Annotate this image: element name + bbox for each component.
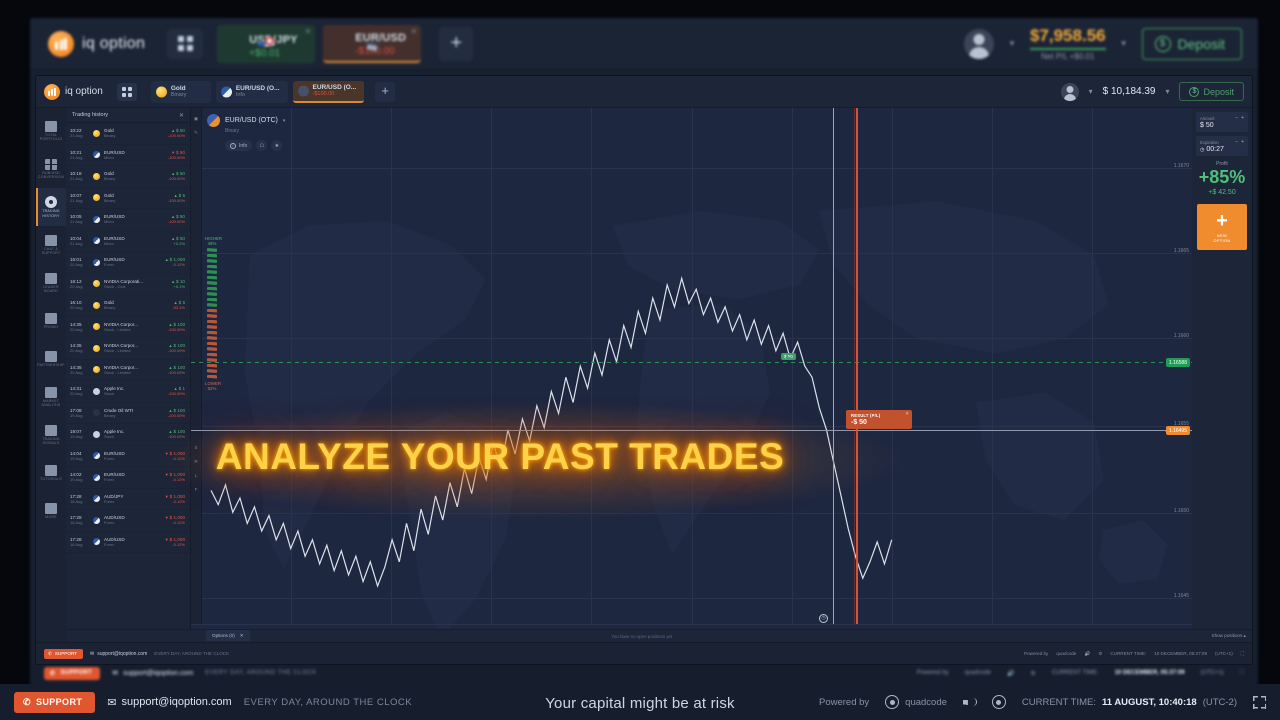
apps-grid-button[interactable]	[167, 29, 203, 59]
table-row[interactable]: 16:1020 AugGoldBinary▲$ 5-83.1%	[66, 295, 190, 317]
coin-icon: $	[1155, 36, 1171, 52]
table-row[interactable]: 10:2121 AugEUR/USDMicro▼$ 50-100.00%	[66, 145, 190, 167]
support-label: SUPPORT	[55, 651, 77, 656]
trade-amount-cell: ▲$ 50+0.2%	[171, 236, 185, 246]
amount-caption: Amount − +	[1200, 115, 1244, 121]
expiration-minus-button[interactable]: −	[1235, 139, 1238, 145]
chevron-down-icon[interactable]: ▼	[1008, 39, 1016, 48]
support-badge[interactable]: ✆ SUPPORT	[44, 649, 83, 659]
asset-tab-eurusd-otc-selected[interactable]: EUR/USD (O... -$100.00	[293, 81, 365, 103]
table-row[interactable]: 17:2818 AugAUD/USDForex▼$ 1,000-0.12%	[66, 510, 190, 532]
trade-pct: -100.00%	[168, 133, 185, 138]
table-row[interactable]: 10:0421 AugEUR/USDMicro▲$ 50+0.2%	[66, 231, 190, 253]
clock-icon: ◷	[819, 614, 828, 623]
profit-amount: +$ 42.50	[1196, 189, 1248, 196]
trade-pct: -0.12%	[165, 542, 185, 547]
asset-icon	[93, 345, 100, 352]
rail-item-partnership[interactable]: PARTNERSHIP	[36, 340, 66, 378]
trophy-icon	[45, 273, 57, 284]
brand-logo[interactable]: iq option	[48, 31, 145, 57]
asset-tab-pl: -$100.00	[313, 91, 357, 97]
rail-item-label: MORE	[37, 515, 65, 519]
price-axis-tick: 1.1665	[1174, 248, 1189, 254]
trade-time-cell: 17:2818 Aug	[70, 494, 89, 504]
trade-amount-cell: ▼$ 1,000-0.12%	[165, 515, 185, 525]
dots-icon	[45, 503, 57, 514]
asset-icon	[93, 173, 100, 180]
support-note: EVERY DAY, AROUND THE CLOCK	[205, 670, 316, 676]
add-asset-button[interactable]: +	[439, 27, 473, 61]
asset-tab-label: Gold	[171, 85, 203, 92]
trade-asset-cell: EUR/USDMicro	[104, 236, 167, 246]
headline-text: ANALYZE YOUR PAST TRADES	[0, 436, 1000, 478]
trading-history-panel: Trading history ✕ 10:2221 AugGoldBinary▲…	[66, 108, 191, 642]
top-bar-right: ▾ $ 10,184.39 ▾ $ Deposit	[1061, 82, 1244, 101]
trade-asset-cell: NVIDIA Corporati...Stock - Clos	[104, 279, 167, 289]
asset-icon	[93, 280, 100, 287]
analysis-icon	[45, 387, 57, 398]
trade-time-cell: 10:0721 Aug	[70, 193, 89, 203]
add-asset-button[interactable]: +	[375, 82, 395, 102]
trade-amount-cell: ▲$ 50-100.00%	[168, 214, 185, 224]
options-tab[interactable]: Options (0) ✕	[206, 630, 250, 641]
brand-logo[interactable]: iq option	[44, 84, 103, 100]
trade-amount-cell: ▲$ 100-100.00%	[168, 365, 185, 375]
price-axis-tick: 1.1670	[1174, 163, 1189, 169]
price-axis-tick: 1.1655	[1174, 421, 1189, 427]
new-option-label: NEW OPTION	[1213, 233, 1230, 243]
trade-date: 19 Aug	[70, 413, 89, 418]
handshake-icon	[45, 351, 57, 362]
support-email[interactable]: ✉ support@iqoption.com	[90, 651, 147, 657]
table-row[interactable]: 14:3520 AugNVIDIA Corpor...Stock - Limit…	[66, 360, 190, 382]
top-bar: iq option Gold Binary EUR/USD (O... Info	[36, 76, 1252, 108]
table-row[interactable]: 14:3520 AugNVIDIA Corpor...Stock - Limit…	[66, 338, 190, 360]
trade-type: Forex	[104, 477, 161, 482]
trade-time-cell: 16:1020 Aug	[70, 300, 89, 310]
rail-item-market-analysis[interactable]: MARKET ANALYSIS	[36, 378, 66, 416]
trading-history-list[interactable]: 10:2221 AugGoldBinary▲$ 50-100.00%10:212…	[66, 123, 190, 642]
result-badge[interactable]: ✕ RESULT (P/L) -$ 50	[846, 410, 912, 429]
balance-widget[interactable]: $7,958.56 Net P/L +$0.01	[1030, 26, 1106, 61]
trade-time-cell: 10:0421 Aug	[70, 236, 89, 246]
settings-icon[interactable]: ⚙	[1098, 651, 1102, 657]
trade-asset-cell: EUR/USDMicro	[104, 150, 164, 160]
trade-asset-cell: GoldBinary	[104, 300, 168, 310]
amount-steppers: − +	[1235, 115, 1244, 121]
clock-icon: ◷	[1200, 147, 1204, 153]
amount-plus-button[interactable]: +	[1241, 115, 1244, 121]
asset-tab-strip: Gold Binary EUR/USD (O... Info EUR/USD (…	[151, 81, 395, 103]
amount-field[interactable]: Amount − + $ 50	[1196, 112, 1248, 132]
trade-pct: -0.12%	[165, 520, 185, 525]
deposit-label: Deposit	[1203, 87, 1234, 97]
price-axis-tick: 1.1645	[1174, 593, 1189, 599]
grid-cell	[178, 36, 184, 42]
table-row[interactable]: 10:0521 AugEUR/USDMicro▲$ 50-100.00%	[66, 209, 190, 231]
trade-type: Binary	[104, 176, 164, 181]
avatar[interactable]	[1061, 83, 1079, 101]
trade-amount-cell: ▲$ 5-83.1%	[172, 300, 185, 310]
current-time-label: CURRENT TIME:	[1110, 651, 1146, 656]
asset-tab-label: EUR/USD (O...	[313, 84, 357, 91]
asset-icon	[93, 538, 100, 545]
trade-date: 20 Aug	[70, 391, 89, 396]
brand-name: iq option	[65, 86, 103, 97]
utc-offset: (UTC+1)	[1201, 670, 1224, 676]
close-icon[interactable]: ✕	[305, 27, 312, 36]
trade-asset-cell: NVIDIA Corpor...Stock - Limited	[104, 365, 164, 375]
trade-pct: -100.00%	[168, 348, 185, 353]
asset-tab-label: EUR/USD (O...	[236, 85, 280, 92]
trade-type: Forex	[104, 499, 161, 504]
trade-date: 21 Aug	[70, 155, 89, 160]
trade-asset-cell: Crude Oil WTIBinary	[104, 408, 164, 418]
grid-icon	[45, 159, 57, 170]
asset-icon	[93, 366, 100, 373]
iq-option-logo-icon	[48, 31, 74, 57]
footer-bar: ✆ SUPPORT ✉ support@iqoption.com EVERY D…	[36, 642, 1252, 664]
asset-tab-sub: Binary	[171, 92, 203, 98]
apps-grid-button[interactable]	[117, 83, 137, 101]
support-icon: ✆	[50, 670, 55, 677]
trade-asset-cell: GoldBinary	[104, 128, 164, 138]
left-nav-rail: TOTAL PORTFOLIORUB/USD CONVERSIONTRADING…	[36, 108, 66, 642]
trade-time-cell: 16:1220 Aug	[70, 279, 89, 289]
price-axis-tick: 1.1660	[1174, 333, 1189, 339]
trade-amount-cell: ▲$ 1,000-0.12%	[165, 257, 185, 267]
sound-icon[interactable]: 🔊	[1084, 651, 1090, 657]
expiration-label: Expiration	[1200, 140, 1219, 145]
close-icon[interactable]: ✕	[240, 633, 244, 639]
show-positions-button[interactable]: Show positions ▴	[1212, 633, 1246, 639]
application-window: iq option Gold Binary EUR/USD (O... Info	[36, 76, 1252, 664]
main-body: TOTAL PORTFOLIORUB/USD CONVERSIONTRADING…	[36, 108, 1252, 642]
brand-name: iq option	[82, 35, 145, 53]
outer-top-bar: iq option ✕ USD/JPY +$0.01 ✕ EUR/USD -$1…	[30, 18, 1258, 70]
trade-amount-cell: ▲$ 100-100.00%	[168, 408, 185, 418]
trade-time-cell: 17:2818 Aug	[70, 515, 89, 525]
briefcase-icon	[45, 121, 57, 132]
expiration-plus-button[interactable]: +	[1241, 139, 1244, 145]
asset-icon	[93, 409, 100, 416]
trade-type: Forex	[104, 542, 161, 547]
grid-cell	[122, 87, 126, 91]
grid-cell	[128, 93, 132, 97]
table-row[interactable]: 17:2818 AugAUD/USDForex▼$ 1,000-0.12%	[66, 532, 190, 554]
asset-tab-eurusd-otc[interactable]: EUR/USD (O... Info	[216, 81, 288, 103]
grid-cell	[187, 36, 193, 42]
trade-type: Stock - Clos	[104, 284, 167, 289]
amount-minus-button[interactable]: −	[1235, 115, 1238, 121]
strike-line-green	[191, 362, 1192, 363]
trade-type: Binary	[104, 198, 164, 203]
panel-title: Trading history	[72, 112, 108, 118]
close-icon[interactable]: ✕	[905, 411, 909, 417]
trade-time-cell: 10:2121 Aug	[70, 150, 89, 160]
close-icon[interactable]: ✕	[411, 27, 418, 36]
profit-percent: +85%	[1196, 168, 1248, 187]
chevron-down-icon[interactable]: ▾	[1165, 87, 1169, 96]
trade-asset-cell: Apple Inc.Stock	[104, 386, 164, 396]
deposit-button[interactable]: $ Deposit	[1142, 28, 1242, 60]
trade-amount-cell: ▲$ 1-100.00%	[168, 386, 185, 396]
trade-date: 21 Aug	[70, 176, 89, 181]
trade-amount-cell: ▲$ 100-100.00%	[168, 343, 185, 353]
asset-tab-sub: Info	[236, 92, 280, 98]
purchase-line-shadow	[854, 108, 855, 624]
deal-marker[interactable]: $ 50	[781, 353, 796, 360]
price-axis: 1.16701.16651.16601.16551.16501.1645	[1158, 108, 1192, 624]
expiration-caption: Expiration − +	[1200, 139, 1244, 145]
trade-date: 20 Aug	[70, 262, 89, 267]
trade-asset-cell: EUR/USDForex	[104, 257, 161, 267]
rail-item-trading-history[interactable]: TRADING HISTORY	[36, 188, 66, 226]
trade-asset-cell: AUD/USDForex	[104, 515, 161, 525]
trade-type: Micro	[104, 219, 164, 224]
coin-icon: $	[1189, 87, 1199, 97]
trade-date: 20 Aug	[70, 348, 89, 353]
expiry-line-white	[833, 108, 834, 624]
trade-date: 20 Aug	[70, 327, 89, 332]
trade-time-cell: 10:0521 Aug	[70, 214, 89, 224]
trade-asset-cell: AUD/USDForex	[104, 537, 161, 547]
footer-right: Powered by quadcode 🔊 ⚙ CURRENT TIME: 10…	[1024, 651, 1244, 657]
asset-icon	[93, 323, 100, 330]
iq-option-logo-icon	[44, 84, 60, 100]
trade-date: 20 Aug	[70, 370, 89, 375]
trade-asset-cell: GoldBinary	[104, 171, 164, 181]
rail-item-leader-board[interactable]: LEADER BOARD	[36, 264, 66, 302]
trade-date: 18 Aug	[70, 542, 89, 547]
outer-footer-right: Powered by quadcode 🔊 ⚙ CURRENT TIME: 10…	[917, 670, 1244, 677]
trade-date: 21 Aug	[70, 133, 89, 138]
trade-type: Forex	[104, 520, 161, 525]
trade-asset-cell: EUR/USDMicro	[104, 214, 164, 224]
trade-pct: -100.00%	[168, 198, 185, 203]
asset-tab-pl: +$0.01	[249, 48, 303, 59]
trade-type: Forex	[104, 262, 161, 267]
trade-controls-panel: Amount − + $ 50 Expiration − +	[1192, 108, 1252, 642]
chevron-down-icon[interactable]: ▼	[1120, 39, 1128, 48]
risk-disclaimer: Your capital might be at risk	[0, 695, 1280, 712]
trade-pct: -100.00%	[168, 413, 185, 418]
powered-by-text: Powered by	[1024, 651, 1048, 656]
trade-date: 18 Aug	[70, 499, 89, 504]
rail-item-label: PARTNERSHIP	[37, 363, 65, 367]
rocket-icon	[45, 313, 57, 324]
trade-time-cell: 17:0819 Aug	[70, 408, 89, 418]
expand-icon[interactable]: ⛶	[1241, 651, 1244, 656]
support-email-text: support@iqoption.com	[123, 670, 193, 677]
chat-icon	[45, 235, 57, 246]
support-email-text: support@iqoption.com	[97, 651, 147, 657]
asset-icon	[93, 130, 100, 137]
expiration-time: 00:27	[1206, 146, 1224, 153]
settings-icon[interactable]: ⚙	[1030, 670, 1035, 677]
chart-panel[interactable]: ▣ ✎ S R L F EUR/USD (OTC) ▾ Binary	[191, 108, 1192, 642]
rail-item-total-portfolio[interactable]: TOTAL PORTFOLIO	[36, 112, 66, 150]
sound-icon[interactable]: 🔊	[1007, 670, 1014, 677]
mail-icon: ✉	[112, 669, 118, 677]
rail-item-chat-support[interactable]: CHAT & SUPPORT	[36, 226, 66, 264]
new-option-line2: OPTION	[1213, 238, 1230, 243]
result-title: RESULT (P/L)	[851, 413, 907, 418]
table-row[interactable]: 17:2818 AugAUD/JPYForex▼$ 1,000-0.12%	[66, 489, 190, 511]
deposit-button[interactable]: $ Deposit	[1179, 82, 1244, 101]
support-label: SUPPORT	[60, 670, 92, 676]
trade-asset-cell: GoldBinary	[104, 193, 164, 203]
outer-footer-blurred: ✆ SUPPORT ✉ support@iqoption.com EVERY D…	[30, 662, 1258, 684]
grid-cell	[128, 87, 132, 91]
asset-icon	[93, 517, 100, 524]
table-row[interactable]: 16:0120 AugEUR/USDForex▲$ 1,000-0.12%	[66, 252, 190, 274]
rail-item-label: PROMO	[37, 325, 65, 329]
trade-amount-cell: ▲$ 50-100.00%	[168, 128, 185, 138]
asset-icon	[93, 216, 100, 223]
trade-type: Binary	[104, 305, 168, 310]
trade-date: 21 Aug	[70, 219, 89, 224]
expand-icon[interactable]: ⛶	[1240, 670, 1244, 677]
trade-time-cell: 10:2221 Aug	[70, 128, 89, 138]
new-option-button[interactable]: + NEW OPTION	[1197, 204, 1247, 250]
arrow-down-icon: ▼	[165, 537, 169, 542]
trade-type: Stock - Limited	[104, 370, 164, 375]
trade-time-cell: 14:3120 Aug	[70, 386, 89, 396]
asset-tab-gold[interactable]: Gold Binary	[151, 81, 211, 103]
trade-time-cell: 16:0120 Aug	[70, 257, 89, 267]
expiration-field[interactable]: Expiration − + ◷ 00:27	[1196, 136, 1248, 156]
table-row[interactable]: 17:0819 AugCrude Oil WTIBinary▲$ 100-100…	[66, 403, 190, 425]
trade-amount-cell: ▲$ 50-100.00%	[168, 171, 185, 181]
trade-type: Stock - Limited	[104, 348, 164, 353]
rail-item-label: MARKET ANALYSIS	[37, 399, 65, 408]
rail-item-label: RUB/USD CONVERSION	[37, 171, 65, 180]
asset-tab-eurusd[interactable]: ✕ EUR/USD -$100.00	[323, 25, 421, 63]
history-icon	[45, 196, 57, 208]
trade-amount-cell: ▲$ 10+0.1%	[171, 279, 185, 289]
trade-pct: -100.00%	[168, 176, 185, 181]
asset-icon	[93, 302, 100, 309]
trade-pct: -0.12%	[165, 477, 185, 482]
trade-type: Micro	[104, 155, 164, 160]
support-badge[interactable]: ✆ SUPPORT	[44, 667, 100, 680]
rail-item-more[interactable]: MORE	[36, 492, 66, 530]
trade-type: Binary	[104, 413, 164, 418]
trade-pct: -100.00%	[168, 391, 185, 396]
asset-tab-usdjpy[interactable]: ✕ USD/JPY +$0.01	[217, 25, 315, 63]
trade-date: 21 Aug	[70, 198, 89, 203]
asset-icon	[93, 237, 100, 244]
table-row[interactable]: 10:2221 AugGoldBinary▲$ 50-100.00%	[66, 123, 190, 145]
plus-icon: +	[1216, 212, 1228, 230]
table-row[interactable]: 10:0721 AugGoldBinary▲$ 5-100.00%	[66, 188, 190, 210]
arrow-up-icon: ▲	[165, 257, 169, 262]
rail-item-rub-usd-conversion[interactable]: RUB/USD CONVERSION	[36, 150, 66, 188]
price-line-series	[191, 108, 1192, 642]
trade-type: Stock - Limited	[104, 327, 164, 332]
trade-date: 20 Aug	[70, 305, 89, 310]
grid-cell	[122, 93, 126, 97]
trade-time-cell: 10:1821 Aug	[70, 171, 89, 181]
trade-pct: -100.00%	[168, 219, 185, 224]
support-email[interactable]: ✉ support@iqoption.com	[112, 669, 193, 677]
trade-pct: +0.1%	[171, 284, 185, 289]
trade-amount-cell: ▲$ 100-100.00%	[168, 322, 185, 332]
balance-amount[interactable]: $ 10,184.39	[1103, 86, 1156, 97]
positions-hint: You have no open positions yet	[611, 634, 672, 639]
trade-time-cell: 14:3520 Aug	[70, 365, 89, 375]
asset-icon	[93, 495, 100, 502]
quadcode-name: quadcode	[965, 670, 991, 676]
asset-icon	[93, 259, 100, 266]
table-row[interactable]: 16:1220 AugNVIDIA Corporati...Stock - Cl…	[66, 274, 190, 296]
asset-tab-pl: -$100.00	[355, 46, 409, 57]
trade-date: 21 Aug	[70, 241, 89, 246]
trade-pct: -100.00%	[168, 370, 185, 375]
result-value: -$ 50	[851, 419, 907, 426]
trade-pct: -100.00%	[168, 155, 185, 160]
trade-time-cell: 14:3520 Aug	[70, 322, 89, 332]
balance-subtext: Net P/L +$0.01	[1030, 52, 1106, 61]
trading-history-header: Trading history ✕	[66, 108, 190, 123]
trade-type: Micro	[104, 241, 167, 246]
trade-asset-cell: NVIDIA Corpor...Stock - Limited	[104, 343, 164, 353]
rail-item-label: LEADER BOARD	[37, 285, 65, 294]
trade-date: 18 Aug	[70, 520, 89, 525]
quadcode-name: quadcode	[1056, 651, 1076, 656]
video-frame: iq option ✕ USD/JPY +$0.01 ✕ EUR/USD -$1…	[0, 0, 1280, 720]
current-time-value: 10 DECEMBER, 05:37:09	[1115, 670, 1185, 676]
rail-item-promo[interactable]: PROMO	[36, 302, 66, 340]
rail-item-label: TRADING HISTORY	[37, 209, 65, 218]
asset-icon	[93, 388, 100, 395]
balance-amount: $7,958.56	[1030, 26, 1106, 46]
avatar[interactable]	[964, 29, 994, 59]
deposit-label: Deposit	[1178, 36, 1225, 52]
table-row[interactable]: 10:1821 AugGoldBinary▲$ 50-100.00%	[66, 166, 190, 188]
eurusd-pair-icon	[363, 41, 381, 44]
arrow-down-icon: ▼	[165, 515, 169, 520]
asset-icon	[93, 194, 100, 201]
trade-time-cell: 17:2818 Aug	[70, 537, 89, 547]
trade-pct: +0.2%	[171, 241, 185, 246]
trade-pct: -83.1%	[172, 305, 185, 310]
table-row[interactable]: 14:3120 AugApple Inc.Stock▲$ 1-100.00%	[66, 381, 190, 403]
expiration-value[interactable]: ◷ 00:27	[1200, 146, 1244, 153]
current-time-value: 10 DECEMBER, 05:37:09	[1154, 651, 1207, 656]
trade-pct: -0.12%	[165, 499, 185, 504]
current-time-label: CURRENT TIME:	[1052, 670, 1099, 676]
trade-asset-cell: AUD/JPYForex	[104, 494, 161, 504]
support-note: EVERY DAY, AROUND THE CLOCK	[154, 651, 229, 656]
rail-item-label: CHAT & SUPPORT	[37, 247, 65, 256]
trade-asset-cell: NVIDIA Corpor...Stock - Limited	[104, 322, 164, 332]
trade-amount-cell: ▲$ 5-100.00%	[168, 193, 185, 203]
grid-cell	[187, 45, 193, 51]
close-icon[interactable]: ✕	[179, 112, 184, 119]
balance-underline	[1030, 48, 1106, 50]
amount-label: Amount	[1200, 116, 1214, 121]
powered-by-text: Powered by	[917, 670, 949, 676]
chevron-down-icon[interactable]: ▾	[1089, 87, 1093, 96]
table-row[interactable]: 14:3520 AugNVIDIA Corpor...Stock - Limit…	[66, 317, 190, 339]
eurusd-pair-icon	[221, 86, 232, 97]
expiration-steppers: − +	[1235, 139, 1244, 145]
amount-value[interactable]: $ 50	[1200, 122, 1244, 129]
diamond-icon	[45, 425, 57, 436]
mail-icon: ✉	[90, 651, 94, 657]
